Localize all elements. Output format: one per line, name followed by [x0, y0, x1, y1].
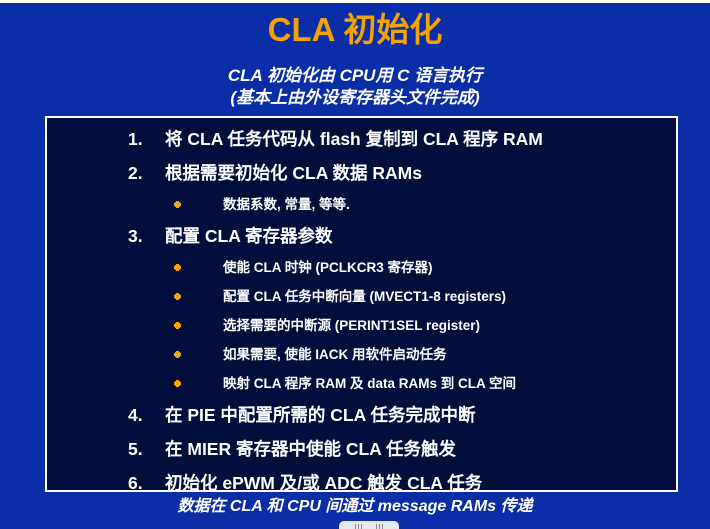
bullet-diamond-icon [175, 288, 223, 305]
grip-dots-right [376, 524, 383, 529]
step-item-5: 5. 在 MIER 寄存器中使能 CLA 任务触发 [47, 432, 676, 466]
sub-bullet-item: 映射 CLA 程序 RAM 及 data RAMs 到 CLA 空间 [47, 369, 676, 398]
step-number: 2. [128, 163, 165, 184]
slide-canvas: CLA 初始化 CLA 初始化由 CPU用 C 语言执行 (基本上由外设寄存器头… [0, 0, 710, 529]
sub-bullet-item: 使能 CLA 时钟 (PCLKCR3 寄存器) [47, 253, 676, 282]
step-item-3: 3. 配置 CLA 寄存器参数 [47, 219, 676, 253]
step-number: 5. [128, 439, 165, 460]
page-title: CLA 初始化 [0, 9, 710, 51]
sub-bullet-label: 选择需要的中断源 (PERINT1SEL register) [223, 317, 676, 334]
sub-bullet-label: 映射 CLA 程序 RAM 及 data RAMs 到 CLA 空间 [223, 375, 676, 392]
step-label: 在 MIER 寄存器中使能 CLA 任务触发 [165, 439, 676, 460]
step-item-2: 2. 根据需要初始化 CLA 数据 RAMs [47, 156, 676, 190]
slide-subtitle: CLA 初始化由 CPU用 C 语言执行 (基本上由外设寄存器头文件完成) [0, 65, 710, 109]
step-label: 在 PIE 中配置所需的 CLA 任务完成中断 [165, 405, 676, 426]
sub-bullet-item: 选择需要的中断源 (PERINT1SEL register) [47, 311, 676, 340]
step-label: 根据需要初始化 CLA 数据 RAMs [165, 163, 676, 184]
sub-bullet-item: 如果需要, 使能 IACK 用软件启动任务 [47, 340, 676, 369]
step-label: 配置 CLA 寄存器参数 [165, 226, 676, 247]
bullet-diamond-icon [175, 375, 223, 392]
slide-footer-note: 数据在 CLA 和 CPU 间通过 message RAMs 传递 [0, 496, 710, 518]
bullet-diamond-icon [175, 196, 223, 213]
bullet-diamond-icon [175, 259, 223, 276]
sub-bullet-item: 配置 CLA 任务中断向量 (MVECT1-8 registers) [47, 282, 676, 311]
bottom-grip-handle[interactable] [339, 521, 399, 529]
step-number: 3. [128, 226, 165, 247]
step-item-4: 4. 在 PIE 中配置所需的 CLA 任务完成中断 [47, 398, 676, 432]
step-label: 将 CLA 任务代码从 flash 复制到 CLA 程序 RAM [165, 129, 676, 150]
sub-bullet-item: 数据系数, 常量, 等等. [47, 190, 676, 219]
subtitle-line-2: (基本上由外设寄存器头文件完成) [0, 87, 710, 109]
step-item-6: 6. 初始化 ePWM 及/或 ADC 触发 CLA 任务 [47, 466, 676, 500]
step-item-1: 1. 将 CLA 任务代码从 flash 复制到 CLA 程序 RAM [47, 122, 676, 156]
bullet-diamond-icon [175, 317, 223, 334]
step-number: 1. [128, 129, 165, 150]
grip-dots-left [355, 524, 362, 529]
sub-bullet-label: 使能 CLA 时钟 (PCLKCR3 寄存器) [223, 259, 676, 276]
sub-bullet-label: 如果需要, 使能 IACK 用软件启动任务 [223, 346, 676, 363]
bullet-diamond-icon [175, 346, 223, 363]
sub-bullet-label: 配置 CLA 任务中断向量 (MVECT1-8 registers) [223, 288, 676, 305]
subtitle-line-1: CLA 初始化由 CPU用 C 语言执行 [0, 65, 710, 87]
step-number: 6. [128, 473, 165, 494]
step-number: 4. [128, 405, 165, 426]
sub-bullet-label: 数据系数, 常量, 等等. [223, 196, 676, 213]
step-label: 初始化 ePWM 及/或 ADC 触发 CLA 任务 [165, 473, 676, 494]
steps-panel: 1. 将 CLA 任务代码从 flash 复制到 CLA 程序 RAM 2. 根… [45, 116, 678, 492]
